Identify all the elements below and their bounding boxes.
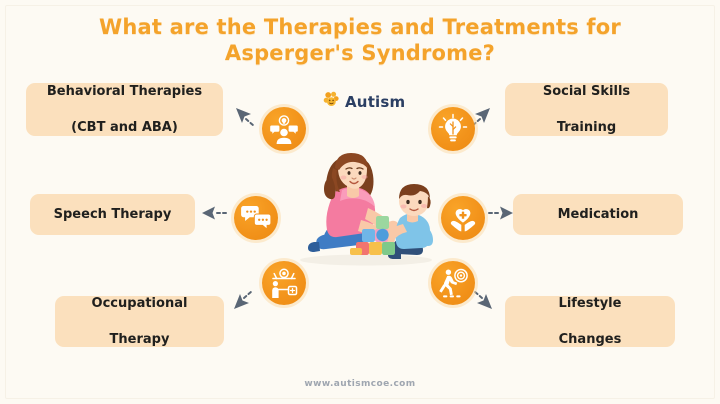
label-line-1: Lifestyle [559, 295, 622, 313]
infographic-canvas: What are the Therapies and Treatments fo… [0, 0, 720, 404]
arrow-right-icon [487, 204, 515, 222]
arrow-left-icon [200, 204, 228, 222]
label-line-1: Speech Therapy [54, 206, 172, 224]
arrow-up-left-icon [234, 106, 260, 130]
label-speech-therapy[interactable]: Speech Therapy [30, 194, 195, 235]
autism-logo: Autism [322, 90, 405, 113]
autism-puzzle-flower-icon [322, 90, 341, 113]
label-line-2: Training [543, 119, 630, 137]
label-line-1: Occupational [92, 295, 188, 313]
hands-holding-heart-cross-icon [441, 196, 485, 240]
footer-url[interactable]: www.autismcoe.com [0, 379, 720, 389]
label-line-2: Changes [559, 331, 622, 349]
title-line-2: Asperger's Syndrome? [0, 40, 720, 66]
speech-bubbles-icon [234, 196, 278, 240]
title-line-1: What are the Therapies and Treatments fo… [99, 15, 621, 39]
label-line-2: Therapy [92, 331, 188, 349]
logo-text: Autism [345, 93, 405, 111]
label-behavioral-therapies[interactable]: Behavioral Therapies (CBT and ABA) [26, 83, 223, 136]
arrow-down-left-icon [232, 287, 258, 311]
label-medication[interactable]: Medication [513, 194, 683, 235]
label-occupational-therapy[interactable]: Occupational Therapy [55, 296, 224, 347]
page-title: What are the Therapies and Treatments fo… [0, 14, 720, 66]
label-line-1: Behavioral Therapies [47, 83, 202, 101]
label-social-skills-training[interactable]: Social Skills Training [505, 83, 668, 136]
label-line-1: Social Skills [543, 83, 630, 101]
label-line-2: (CBT and ABA) [47, 119, 202, 137]
label-line-1: Medication [558, 206, 639, 224]
mother-and-child-playing-blocks-illustration [290, 138, 442, 270]
label-lifestyle-changes[interactable]: Lifestyle Changes [505, 296, 675, 347]
